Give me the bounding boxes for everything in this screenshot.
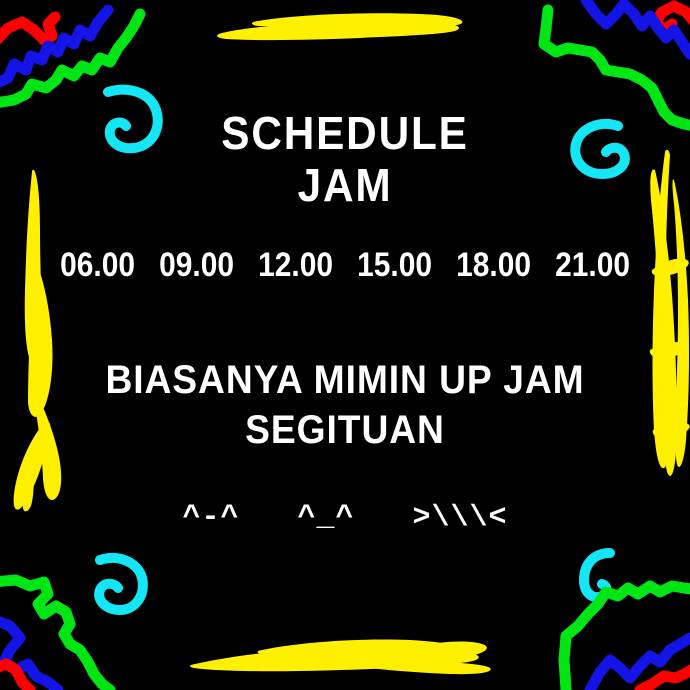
schedule-times-row: 06.00 09.00 12.00 15.00 18.00 21.00 xyxy=(0,248,690,282)
poster-canvas: SCHEDULE JAM 06.00 09.00 12.00 15.00 18.… xyxy=(0,0,690,690)
body-text-line-2: SEGITUAN xyxy=(24,410,666,450)
schedule-time-4[interactable]: 18.00 xyxy=(456,248,531,282)
schedule-time-0[interactable]: 06.00 xyxy=(60,248,135,282)
body-text-line-1: BIASANYA MIMIN UP JAM xyxy=(24,360,666,400)
schedule-time-2[interactable]: 12.00 xyxy=(258,248,333,282)
page-title-line-2: JAM xyxy=(28,162,663,208)
emoticon-0: ^-^ xyxy=(182,500,239,536)
schedule-time-5[interactable]: 21.00 xyxy=(555,248,630,282)
emoticon-2: >\\\< xyxy=(413,500,508,536)
emoticon-1: ^_^ xyxy=(297,500,354,536)
schedule-time-3[interactable]: 15.00 xyxy=(357,248,432,282)
emoticon-row: ^-^ ^_^ >\\\< xyxy=(0,500,690,536)
page-title-line-1: SCHEDULE xyxy=(28,110,663,156)
schedule-time-1[interactable]: 09.00 xyxy=(159,248,234,282)
content-layer: SCHEDULE JAM 06.00 09.00 12.00 15.00 18.… xyxy=(0,0,690,690)
